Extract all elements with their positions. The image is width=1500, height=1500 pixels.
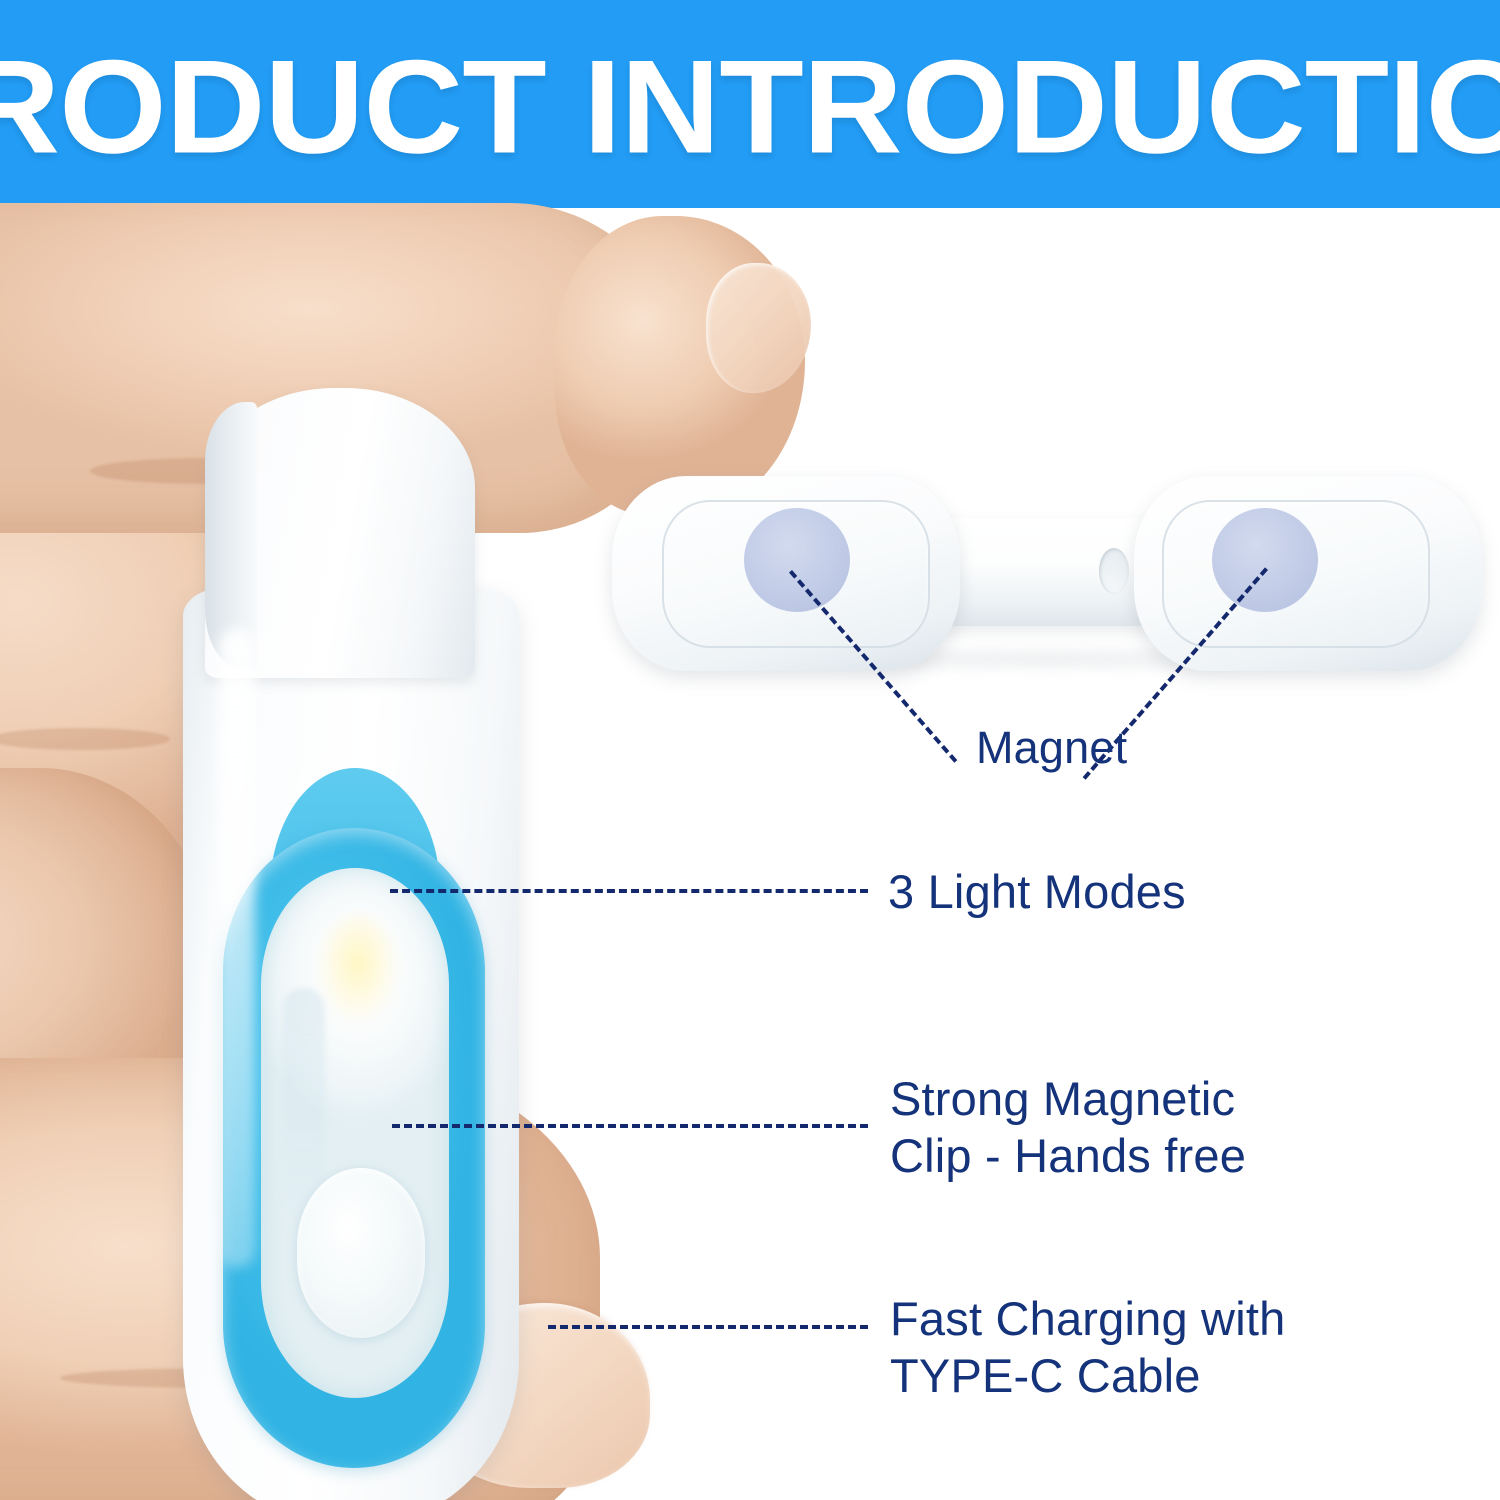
callout-fast-charging: Fast Charging with TYPE-C Cable <box>890 1290 1285 1405</box>
lens-stripe <box>283 988 325 1218</box>
page-title: PRODUCT INTRODUCTION <box>0 42 1500 175</box>
clip-highlight <box>219 628 255 1268</box>
right-pad <box>1134 476 1482 671</box>
light-modes-leader-line <box>390 889 868 893</box>
left-magnet <box>744 508 850 612</box>
right-magnet <box>1212 508 1318 612</box>
product-introduction-infographic: PRODUCT INTRODUCTION <box>0 0 1500 1500</box>
callout-magnet: Magnet <box>976 721 1127 776</box>
magnetic-clip-leader-line <box>392 1124 868 1128</box>
led-glow <box>319 916 397 1021</box>
light-lens <box>261 868 449 1398</box>
callout-light-modes: 3 Light Modes <box>888 863 1186 920</box>
magnetic-clip-light <box>175 388 525 1500</box>
header-banner: PRODUCT INTRODUCTION <box>0 0 1500 208</box>
product-photo-area: Magnet 3 Light Modes Strong Magnetic Cli… <box>0 208 1500 1500</box>
opened-magnetic-clip <box>612 476 1482 676</box>
power-button <box>297 1168 425 1338</box>
callout-magnetic-clip: Strong Magnetic Clip - Hands free <box>890 1070 1246 1185</box>
fast-charging-leader-line <box>548 1325 868 1329</box>
left-pad <box>612 476 960 671</box>
band-notch <box>1099 548 1129 594</box>
